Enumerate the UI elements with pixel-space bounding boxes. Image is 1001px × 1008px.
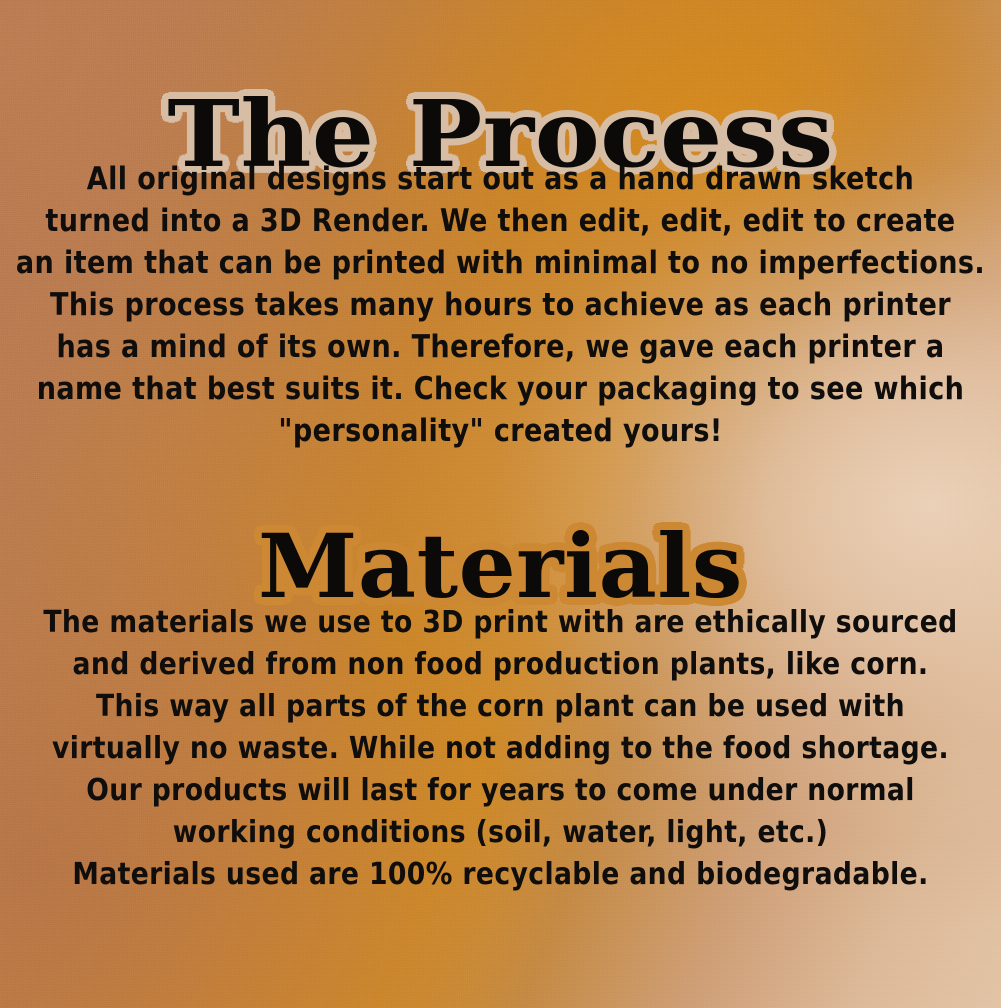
body-line: turned into a 3D Render. We then edit, e… — [15, 200, 986, 242]
body-line: an item that can be printed with minimal… — [15, 242, 986, 284]
body-line: All original designs start out as a hand… — [15, 158, 986, 200]
poster-content: The Process All original designs start o… — [0, 0, 1001, 1008]
body-line: working conditions (soil, water, light, … — [15, 812, 986, 854]
body-line: This process takes many hours to achieve… — [15, 284, 986, 326]
body-line: Materials used are 100% recyclable and b… — [15, 854, 986, 896]
body-line: virtually no waste. While not adding to … — [15, 728, 986, 770]
body-line: The materials we use to 3D print with ar… — [15, 602, 986, 644]
body-line: name that best suits it. Check your pack… — [15, 368, 986, 410]
section-title-materials: Materials — [0, 522, 1001, 610]
section-body-materials: The materials we use to 3D print with ar… — [15, 602, 986, 896]
body-line: Our products will last for years to come… — [15, 770, 986, 812]
poster-canvas: The Process All original designs start o… — [0, 0, 1001, 1008]
body-line: This way all parts of the corn plant can… — [15, 686, 986, 728]
body-line: "personality" created yours! — [15, 410, 986, 452]
body-line: and derived from non food production pla… — [15, 644, 986, 686]
body-line: has a mind of its own. Therefore, we gav… — [15, 326, 986, 368]
section-body-the-process: All original designs start out as a hand… — [15, 158, 986, 452]
